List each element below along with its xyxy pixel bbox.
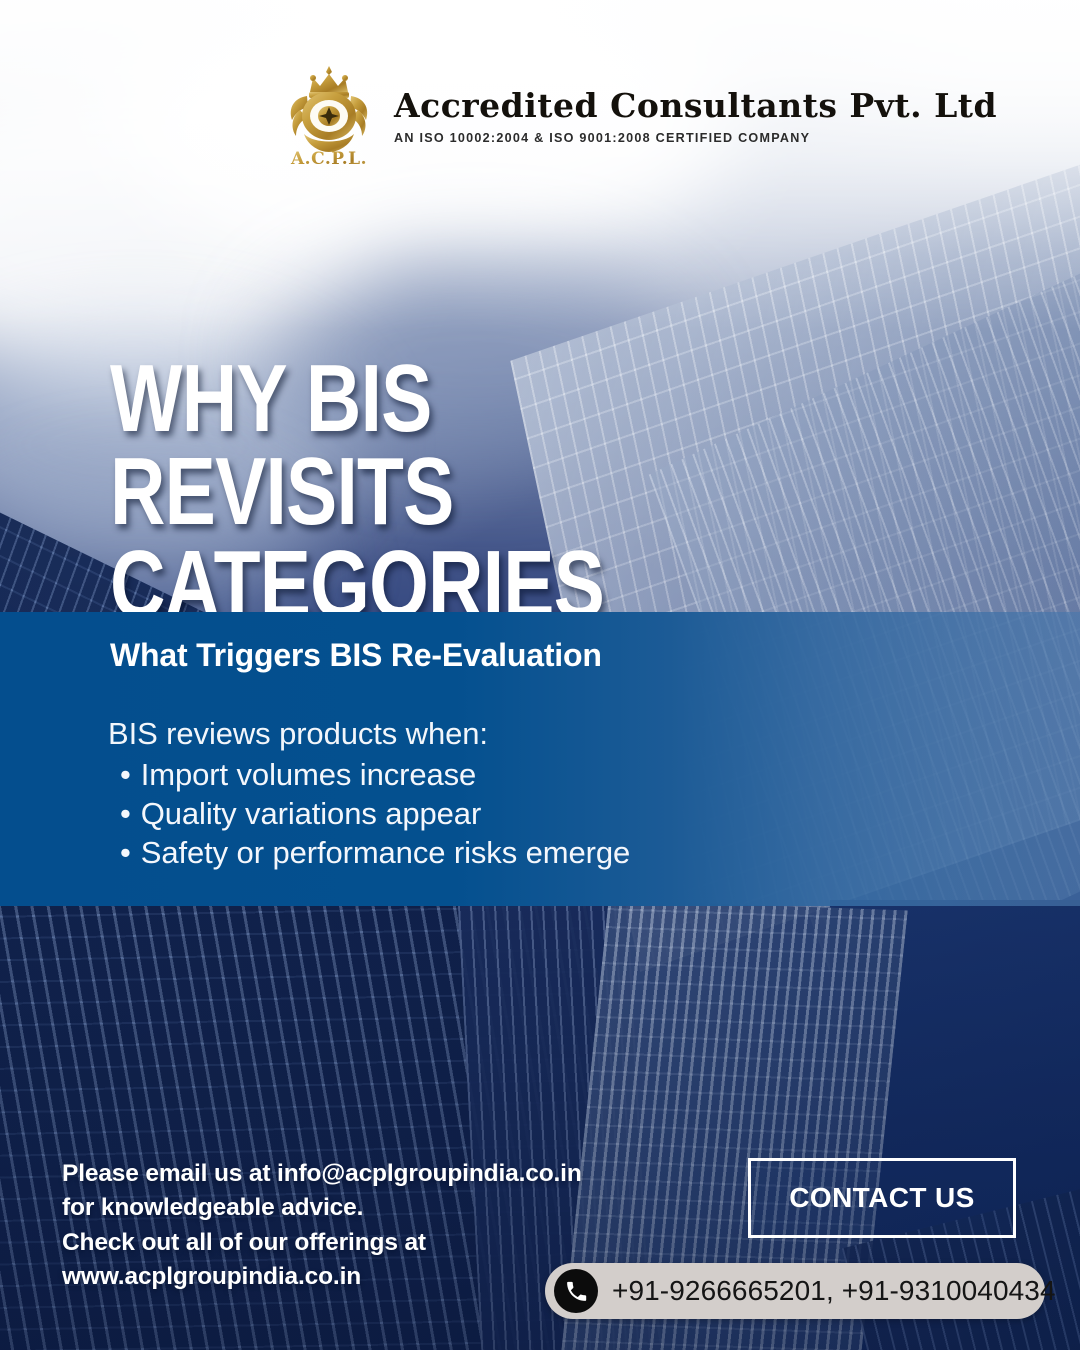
page-title: WHY BIS REVISITS CATEGORIES	[110, 352, 750, 631]
company-name: Accredited Consultants Pvt. Ltd	[394, 89, 997, 124]
certification-line: AN ISO 10002:2004 & ISO 9001:2008 CERTIF…	[394, 131, 997, 145]
list-item: Quality variations appear	[120, 794, 630, 833]
band-heading: What Triggers BIS Re-Evaluation	[110, 637, 602, 674]
list-item: Import volumes increase	[120, 755, 630, 794]
svg-text:A.C.P.L.: A.C.P.L.	[290, 149, 367, 166]
acpl-crest-icon: A.C.P.L.	[280, 62, 378, 166]
brand-logo: A.C.P.L. Accredited Consultants Pvt. Ltd…	[280, 62, 997, 166]
phone-numbers: +91-9266665201, +91-9310040434	[612, 1275, 1056, 1307]
footer-contact-message: Please email us at info@acplgroupindia.c…	[62, 1157, 582, 1294]
phone-icon	[554, 1269, 598, 1313]
phone-number-pill[interactable]: +91-9266665201, +91-9310040434	[545, 1263, 1045, 1319]
poster-canvas: A.C.P.L. Accredited Consultants Pvt. Ltd…	[0, 0, 1080, 1350]
band-lead-text: BIS reviews products when:	[108, 716, 488, 752]
list-item: Safety or performance risks emerge	[120, 833, 630, 872]
brand-logo-text: Accredited Consultants Pvt. Ltd AN ISO 1…	[394, 83, 997, 145]
trigger-list: Import volumes increase Quality variatio…	[120, 755, 630, 872]
contact-us-button[interactable]: CONTACT US	[748, 1158, 1016, 1238]
contact-us-label: CONTACT US	[789, 1182, 974, 1214]
